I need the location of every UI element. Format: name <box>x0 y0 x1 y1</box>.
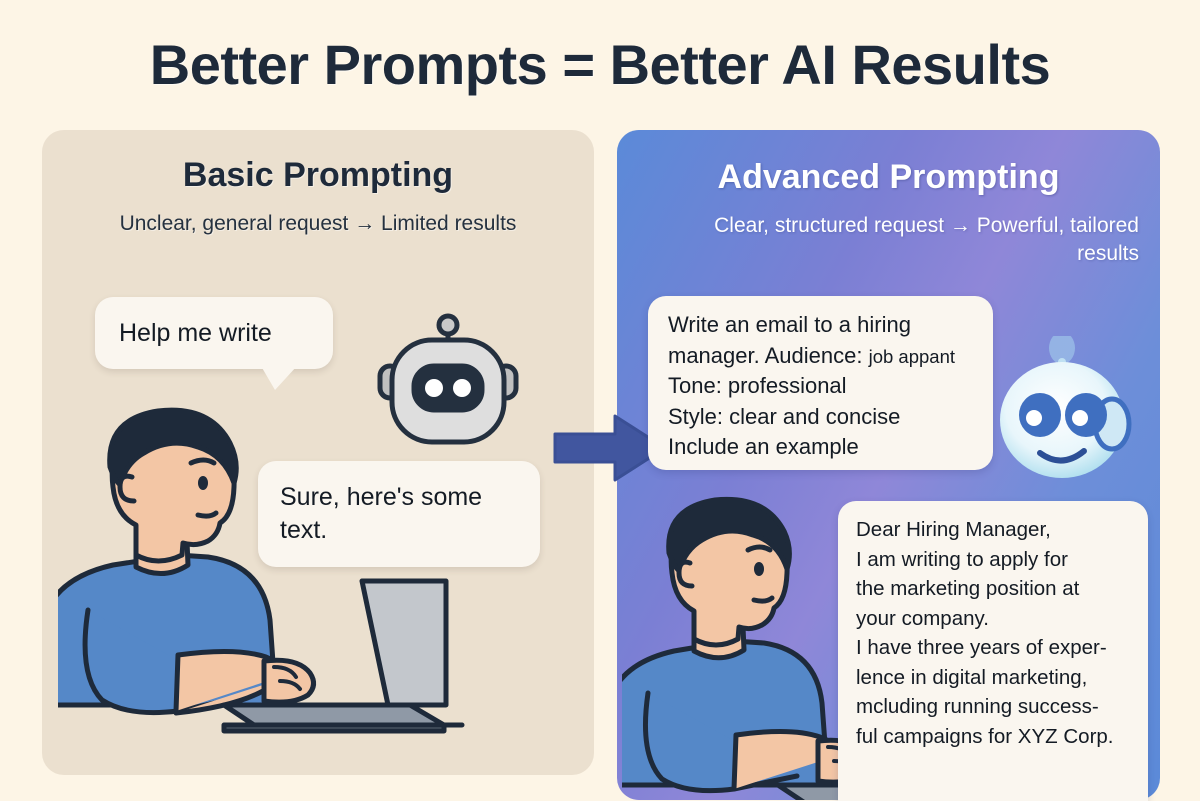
panel-right-title: Advanced Prompting <box>617 158 1160 197</box>
bubble-tail <box>261 366 297 390</box>
email-line: mcluding running success- <box>856 692 1130 722</box>
panel-left-subtitle: Unclear, general request → Limited resul… <box>42 210 594 238</box>
prompt-line-3: Tone: professional <box>668 371 973 402</box>
bubble-sure-text: Sure, here's some text. <box>280 483 482 544</box>
prompt-line-2-main: manager. Audience: <box>668 343 862 368</box>
email-line: your company. <box>856 604 1130 634</box>
panel-right-subtitle: Clear, structured request → Powerful, ta… <box>669 212 1139 269</box>
prompt-line-1: Write an email to a hiring <box>668 310 973 341</box>
prompt-line-5: Include an example <box>668 432 973 463</box>
panel-left-title: Basic Prompting <box>42 156 594 195</box>
prompt-line-4: Style: clear and concise <box>668 402 973 433</box>
grey-robot-icon <box>362 312 534 457</box>
email-line: lence in digital marketing, <box>856 663 1130 693</box>
email-line: ful campaigns for XYZ Corp. <box>856 722 1130 752</box>
speech-bubble-ai-basic: Sure, here's some text. <box>258 461 540 567</box>
email-line: I am writing to apply for <box>856 545 1130 575</box>
prompt-line-2-small: job appant <box>869 346 955 367</box>
email-line: I have three years of exper- <box>856 633 1130 663</box>
card-generated-email: Dear Hiring Manager, I am writing to app… <box>838 501 1148 801</box>
email-line: the marketing position at <box>856 574 1130 604</box>
page-title: Better Prompts = Better AI Results <box>0 32 1200 97</box>
speech-bubble-user-basic: Help me write <box>95 297 333 369</box>
card-structured-prompt: Write an email to a hiring manager. Audi… <box>648 296 993 470</box>
bubble-help-text: Help me write <box>119 319 272 348</box>
blue-robot-icon <box>1000 336 1160 491</box>
prompt-line-2: manager. Audience: job appant <box>668 341 973 372</box>
infographic-canvas: Better Prompts = Better AI Results Basic… <box>0 0 1200 800</box>
email-line: Dear Hiring Manager, <box>856 515 1130 545</box>
